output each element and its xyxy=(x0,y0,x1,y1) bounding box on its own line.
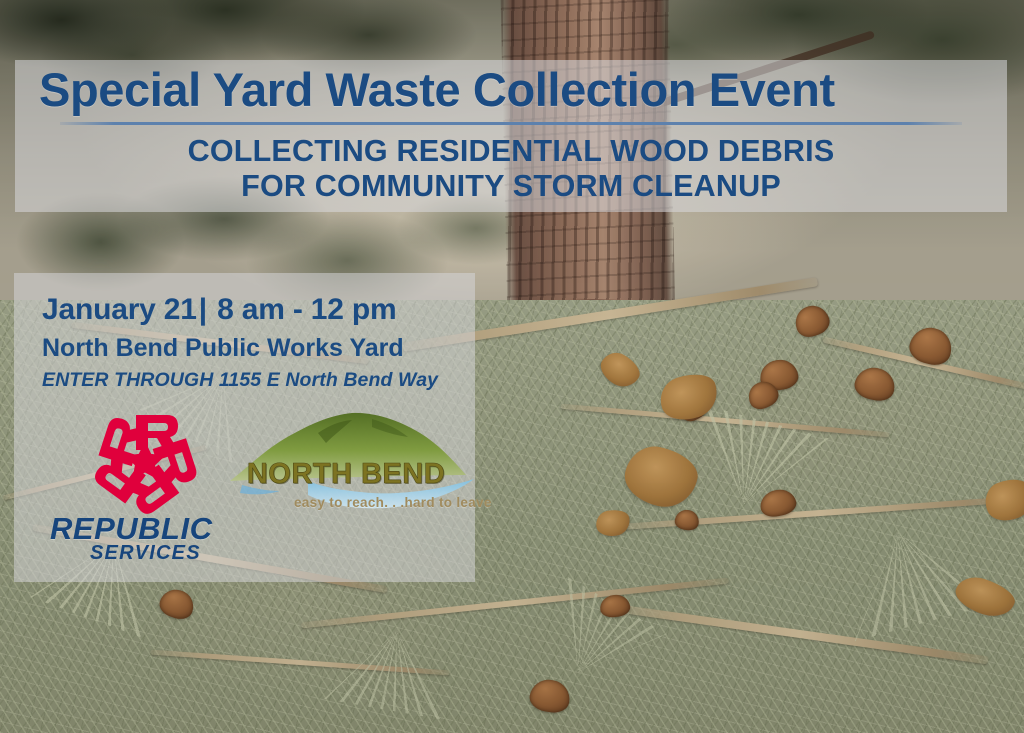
republic-services-logo: REPUBLIC SERVICES xyxy=(52,409,242,574)
subtitle-line-1: COLLECTING RESIDENTIAL WOOD DEBRIS xyxy=(33,134,989,169)
north-bend-tagline: easy to reach. . .hard to leave xyxy=(294,495,494,510)
subtitle: COLLECTING RESIDENTIAL WOOD DEBRIS FOR C… xyxy=(15,134,1007,205)
event-datetime: January 21| 8 am - 12 pm xyxy=(42,293,475,328)
north-bend-wordmark: NORTH BEND xyxy=(236,460,456,489)
page-title: Special Yard Waste Collection Event xyxy=(15,64,1007,116)
datetime-separator: | xyxy=(197,293,209,326)
republic-services-recycling-star-icon xyxy=(70,409,220,519)
header-banner: Special Yard Waste Collection Event COLL… xyxy=(15,60,1007,212)
sponsor-logos: REPUBLIC SERVICES xyxy=(14,403,475,582)
event-info-panel: January 21| 8 am - 12 pm North Bend Publ… xyxy=(14,273,475,582)
republic-services-wordmark: REPUBLIC xyxy=(50,513,246,544)
event-entry-note: ENTER THROUGH 1155 E North Bend Way xyxy=(42,369,475,392)
event-location: North Bend Public Works Yard xyxy=(42,333,475,363)
event-time: 8 am - 12 pm xyxy=(217,293,396,326)
subtitle-line-2: FOR COMMUNITY STORM CLEANUP xyxy=(33,169,989,204)
title-divider xyxy=(60,122,962,125)
poster: Special Yard Waste Collection Event COLL… xyxy=(0,0,1024,733)
republic-services-subword: SERVICES xyxy=(90,543,201,563)
event-date: January 21 xyxy=(42,293,197,326)
north-bend-logo: NORTH BEND easy to reach. . .hard to lea… xyxy=(222,403,490,533)
